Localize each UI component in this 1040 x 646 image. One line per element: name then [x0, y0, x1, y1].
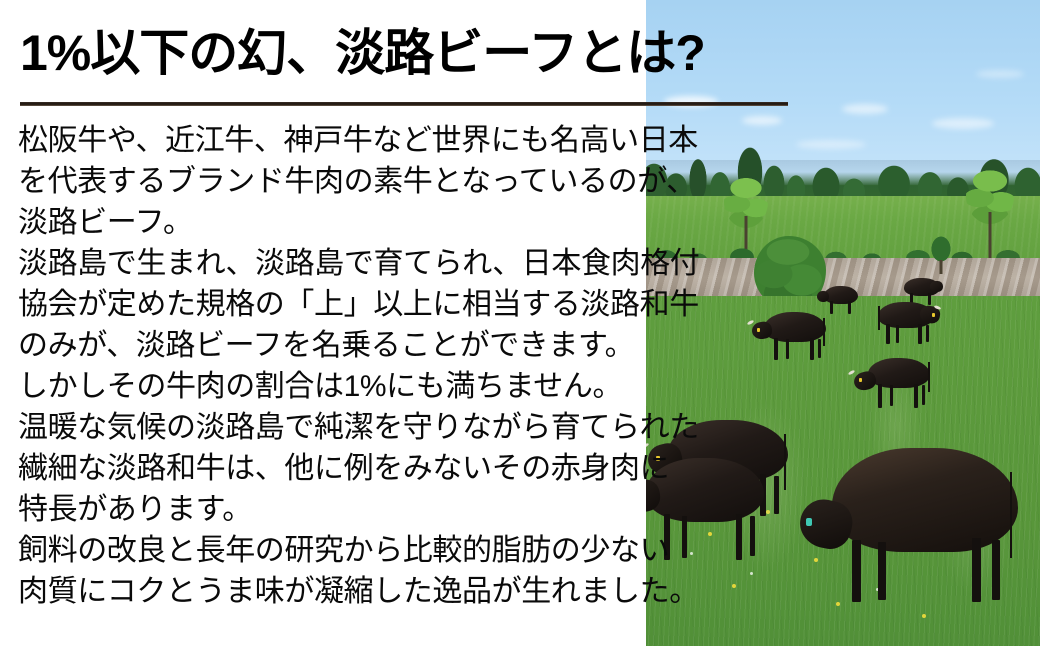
- tree: [928, 232, 954, 274]
- body-line: を代表するブランド牛肉の素牛となっているのが、: [18, 161, 638, 202]
- cloud: [932, 118, 994, 129]
- cow-foreground: [832, 448, 1018, 552]
- title-divider: [20, 102, 788, 106]
- body-copy: 松阪牛や、近江牛、神戸牛など世界にも名高い日本 を代表するブランド牛肉の素牛とな…: [18, 120, 638, 612]
- body-line: 肉質にコクとうま味が凝縮した逸品が生れました。: [18, 571, 638, 612]
- cow: [904, 278, 940, 296]
- cow: [764, 312, 826, 342]
- body-line: 飼料の改良と長年の研究から比較的脂肪の少ない: [18, 530, 638, 571]
- body-line: 特長があります。: [18, 489, 638, 530]
- body-line: 松阪牛や、近江牛、神戸牛など世界にも名高い日本: [18, 120, 638, 161]
- cloud: [976, 70, 1024, 78]
- body-line: 協会が定めた規格の「上」以上に相当する淡路和牛: [18, 284, 638, 325]
- page-title: 1%以下の幻、淡路ビーフとは?: [20, 22, 705, 84]
- cow: [868, 358, 930, 388]
- body-line: しかしその牛肉の割合は1%にも満ちません。: [18, 366, 638, 407]
- promo-panel: 1%以下の幻、淡路ビーフとは? 松阪牛や、近江牛、神戸牛など世界にも名高い日本 …: [0, 0, 1040, 646]
- body-line: 淡路島で生まれ、淡路島で育てられ、日本食肉格付: [18, 243, 638, 284]
- pasture-photo: [646, 0, 1040, 646]
- cow: [878, 302, 934, 328]
- body-line: 繊細な淡路和牛は、他に例をみないその赤身肉に: [18, 448, 638, 489]
- cloud: [742, 116, 782, 125]
- body-line: 温暖な気候の淡路島で純潔を守りながら育てられた: [18, 407, 638, 448]
- cloud: [842, 104, 888, 114]
- cow: [824, 286, 858, 304]
- body-line: 淡路ビーフ。: [18, 202, 638, 243]
- body-line: のみが、淡路ビーフを名乗ることができます。: [18, 325, 638, 366]
